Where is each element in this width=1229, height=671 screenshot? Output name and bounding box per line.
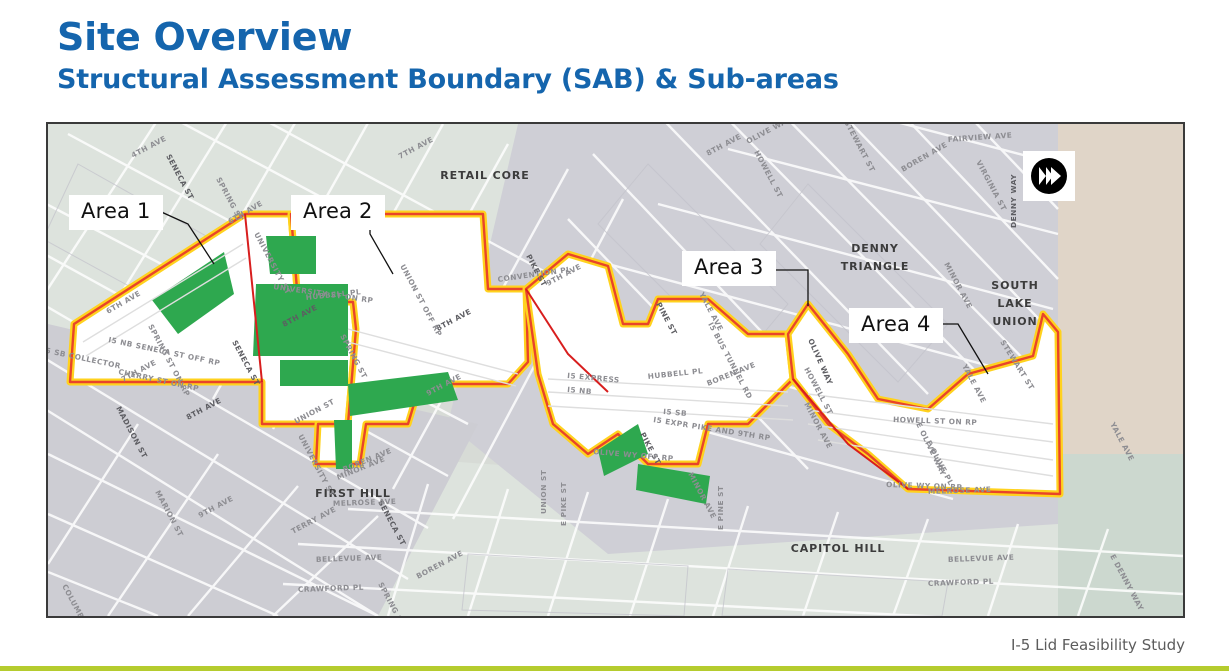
slide-canvas: Site Overview Structural Assessment Boun…: [0, 0, 1229, 671]
callout-area-4[interactable]: Area 4: [849, 308, 943, 343]
svg-text:UNION: UNION: [992, 315, 1037, 328]
svg-text:LAKE: LAKE: [997, 297, 1032, 310]
callout-area-2[interactable]: Area 2: [291, 195, 385, 230]
svg-text:TRIANGLE: TRIANGLE: [841, 260, 910, 273]
neighborhood-label-denny-triangle: DENNY: [851, 242, 899, 255]
neighborhood-label-retail-core: RETAIL CORE: [440, 169, 529, 182]
callout-area-1[interactable]: Area 1: [69, 195, 163, 230]
svg-text:E PINE ST: E PINE ST: [716, 486, 725, 530]
page-title: Site Overview: [57, 18, 839, 58]
north-arrow-icon: [1023, 151, 1075, 201]
page-subtitle: Structural Assessment Boundary (SAB) & S…: [57, 64, 839, 96]
accent-bar: [0, 666, 1229, 671]
site-overview-map[interactable]: RETAIL CORE DENNY TRIANGLE SOUTH LAKE UN…: [46, 122, 1185, 618]
title-block: Site Overview Structural Assessment Boun…: [57, 18, 839, 96]
svg-text:DENNY WAY: DENNY WAY: [1009, 174, 1018, 228]
neighborhood-label-south-lake-union: SOUTH: [991, 279, 1038, 292]
map-graphic: RETAIL CORE DENNY TRIANGLE SOUTH LAKE UN…: [48, 124, 1183, 616]
svg-text:E PIKE ST: E PIKE ST: [559, 482, 568, 526]
footer-study-name: I-5 Lid Feasibility Study: [1011, 636, 1185, 654]
callout-area-3[interactable]: Area 3: [682, 251, 776, 286]
svg-text:UNION ST: UNION ST: [539, 470, 548, 514]
neighborhood-label-capitol-hill: CAPITOL HILL: [791, 542, 886, 555]
